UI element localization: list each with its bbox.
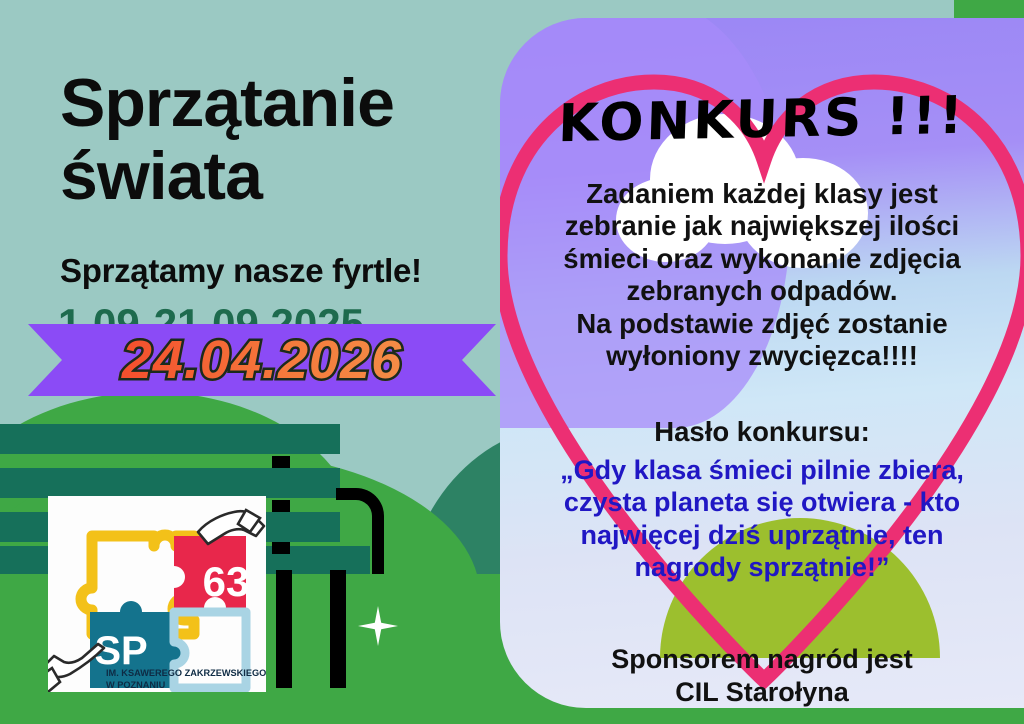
bench-leg-left [276,570,292,688]
bench-notch-2 [272,500,290,512]
slogan-line: „Gdy klasa śmieci pilnie zbiera, [504,454,1020,486]
contest-slogan: „Gdy klasa śmieci pilnie zbiera, czysta … [504,454,1020,584]
description-line: zebranych odpadów. [510,275,1014,307]
description-line: Zadaniem każdej klasy jest [510,178,1014,210]
description-line: śmieci oraz wykonanie zdjęcia [510,243,1014,275]
bench-notch-3 [272,542,290,554]
slogan-line: nagrody sprzątnie!” [504,551,1020,583]
sponsor-line: Sponsorem nagród jest [510,643,1014,676]
contest-title: KONKURS !!! [500,85,1024,156]
contest-description: Zadaniem każdej klasy jest zebranie jak … [510,178,1014,373]
bench-backrest-slat-1 [0,424,340,454]
page-title: Sprzątanie świata [60,70,500,209]
bench-notch-1 [272,456,290,468]
bench-leg-right [330,570,346,688]
logo-caption-line-1: IM. KSAWEREGO ZAKRZEWSKIEGO [106,668,266,678]
poster-canvas: 1.09-21.09.2025 Sprzątanie świata Sprząt… [0,0,1024,724]
logo-number: 63 [203,558,250,605]
contest-card: KONKURS !!! Zadaniem każdej klasy jest z… [500,18,1024,708]
slogan-label: Hasło konkursu: [510,416,1014,448]
logo-caption-line-2: W POZNANIU [106,680,166,690]
card-text-content: KONKURS !!! Zadaniem każdej klasy jest z… [500,18,1024,708]
school-logo-graphic: 63 SP IM. KSAWEREGO ZAKRZEWSKIEGO W POZN… [48,496,266,692]
slogan-line: czysta planeta się otwiera - kto [504,486,1020,518]
bench-armrest [336,488,384,574]
event-date: 24.04.2026 [28,318,496,402]
bench-backrest-slat-2 [0,468,340,498]
slogan-line: najwięcej dziś uprzątnie, ten [504,519,1020,551]
sponsor-line: CIL Starołyna [510,676,1014,708]
subtitle: Sprzątamy nasze fyrtle! [60,252,510,290]
school-logo: 63 SP IM. KSAWEREGO ZAKRZEWSKIEGO W POZN… [48,496,266,692]
description-line: wyłoniony zwycięzca!!!! [510,340,1014,372]
description-line: Na podstawie zdjęć zostanie [510,308,1014,340]
description-line: zebranie jak największej ilości [510,210,1014,242]
headline-line-2: świata [60,143,500,210]
sponsor-text: Sponsorem nagród jest CIL Starołyna [510,643,1014,708]
headline-line-1: Sprzątanie [60,65,394,141]
